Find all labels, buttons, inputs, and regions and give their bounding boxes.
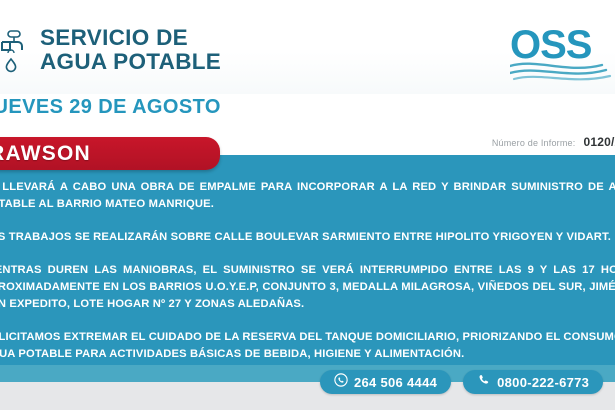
informe-label: Número de Informe: [492,138,576,148]
phone-contact-button[interactable]: 0800-222-6773 [463,370,603,394]
phone-icon [477,373,491,392]
whatsapp-number: 264 506 4444 [354,375,437,390]
whatsapp-icon [334,373,348,392]
notice-body-inner: SE LLEVARÁ A CABO UNA OBRA DE EMPALME PA… [0,179,615,363]
date-row: JUEVES 29 DE AGOSTO [0,94,615,132]
notice-paragraph: LOS TRABAJOS SE REALIZARÁN SOBRE CALLE B… [0,229,615,246]
phone-number: 0800-222-6773 [497,375,589,390]
informe-block: Número de Informe: 0120/2024 [492,135,615,149]
brand-title-line1: SERVICIO DE [40,25,188,50]
brand-title-line2: AGUA POTABLE [40,50,221,74]
notice-date: JUEVES 29 DE AGOSTO [0,96,221,119]
informe-value: 0120/2024 [583,135,615,149]
notice-paragraph: MIENTRAS DUREN LAS MANIOBRAS, EL SUMINIS… [0,262,615,313]
faucet-icon [0,27,30,73]
poster-header: SERVICIO DE AGUA POTABLE OSS [0,0,615,94]
locality-banner: RAWSON [0,137,220,170]
notice-paragraph: SE LLEVARÁ A CABO UNA OBRA DE EMPALME PA… [0,179,615,213]
notice-poster: SERVICIO DE AGUA POTABLE OSS JUEVES 29 D… [0,0,615,382]
notice-paragraph: SOLICITAMOS EXTREMAR EL CUIDADO DE LA RE… [0,329,615,363]
brand-title: SERVICIO DE AGUA POTABLE [40,26,221,74]
brand-lockup: SERVICIO DE AGUA POTABLE [0,26,221,74]
whatsapp-contact-button[interactable]: 264 506 4444 [320,370,451,394]
contact-bar: 264 506 4444 0800-222-6773 [0,382,615,410]
locality-name: RAWSON [0,142,131,166]
contact-pills: 264 506 4444 0800-222-6773 [320,370,603,394]
notice-body: SE LLEVARÁ A CABO UNA OBRA DE EMPALME PA… [0,155,615,365]
oss-logo-text: OSS [510,24,592,67]
